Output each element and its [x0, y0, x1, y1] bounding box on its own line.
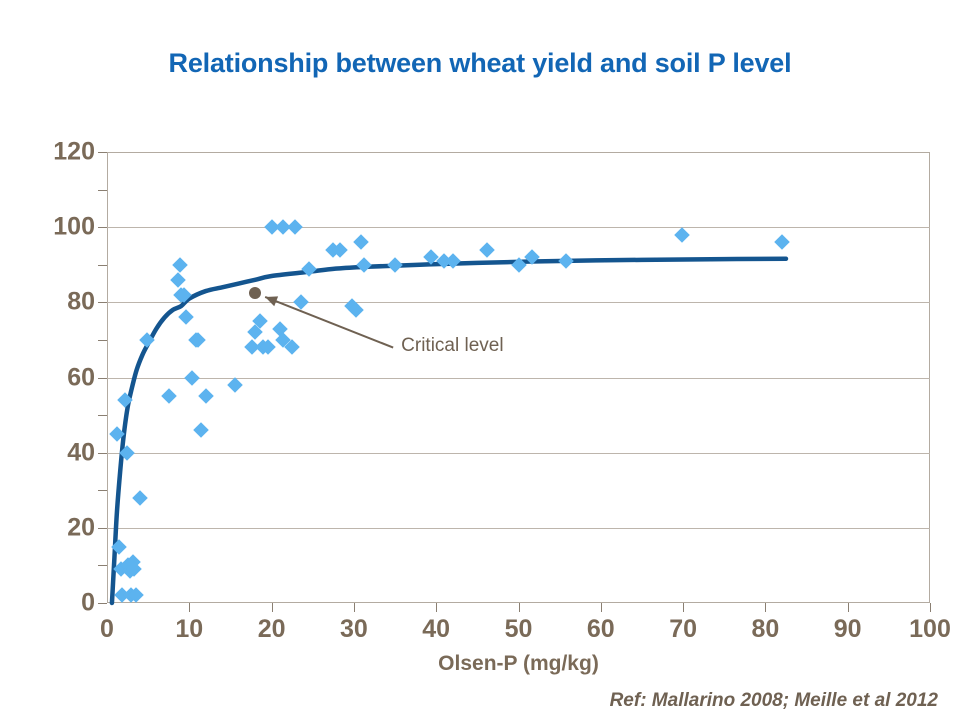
x-tick-label: 60	[587, 615, 615, 644]
x-tick-label: 80	[751, 615, 779, 644]
chart-title: Relationship between wheat yield and soi…	[0, 48, 960, 79]
y-tick-label: 0	[81, 589, 95, 618]
y-tick-mark	[98, 378, 107, 379]
x-tick-label: 40	[422, 615, 450, 644]
y-tick-mark	[98, 227, 107, 228]
y-tick-mark	[98, 603, 107, 604]
chart-page: Relationship between wheat yield and soi…	[0, 0, 960, 720]
x-tick-mark	[930, 603, 931, 612]
gridline	[107, 378, 930, 379]
x-tick-label: 50	[505, 615, 533, 644]
x-tick-mark	[272, 603, 273, 612]
x-tick-mark	[683, 603, 684, 612]
y-tick-mark	[98, 302, 107, 303]
x-tick-mark	[436, 603, 437, 612]
x-tick-mark	[601, 603, 602, 612]
x-tick-label: 0	[100, 615, 114, 644]
y-minor-tick-mark	[98, 340, 107, 341]
y-tick-label: 20	[67, 513, 95, 542]
critical-level-point	[249, 287, 261, 299]
y-minor-tick-mark	[98, 490, 107, 491]
x-tick-label: 20	[258, 615, 286, 644]
y-minor-tick-mark	[98, 265, 107, 266]
plot-area: 020406080100120 0102030405060708090100 C…	[107, 152, 930, 603]
x-tick-label: 90	[834, 615, 862, 644]
y-tick-mark	[98, 528, 107, 529]
x-axis-title: Olsen-P (mg/kg)	[107, 652, 930, 676]
x-tick-mark	[354, 603, 355, 612]
y-tick-mark	[98, 152, 107, 153]
gridline	[107, 528, 930, 529]
x-tick-label: 70	[669, 615, 697, 644]
y-tick-label: 80	[67, 288, 95, 317]
y-minor-tick-mark	[98, 565, 107, 566]
x-tick-mark	[519, 603, 520, 612]
y-tick-label: 100	[53, 213, 95, 242]
x-tick-label: 10	[175, 615, 203, 644]
gridline	[107, 227, 930, 228]
y-tick-label: 60	[67, 363, 95, 392]
x-tick-mark	[189, 603, 190, 612]
y-minor-tick-mark	[98, 190, 107, 191]
y-tick-label: 120	[53, 138, 95, 167]
x-tick-label: 30	[340, 615, 368, 644]
x-tick-mark	[765, 603, 766, 612]
x-tick-label: 100	[909, 615, 951, 644]
y-tick-mark	[98, 453, 107, 454]
gridline	[107, 453, 930, 454]
x-tick-mark	[848, 603, 849, 612]
y-minor-tick-mark	[98, 415, 107, 416]
y-tick-label: 40	[67, 438, 95, 467]
reference-footer: Ref: Mallarino 2008; Meille et al 2012	[610, 690, 938, 712]
gridline	[107, 302, 930, 303]
critical-level-label: Critical level	[401, 335, 503, 357]
